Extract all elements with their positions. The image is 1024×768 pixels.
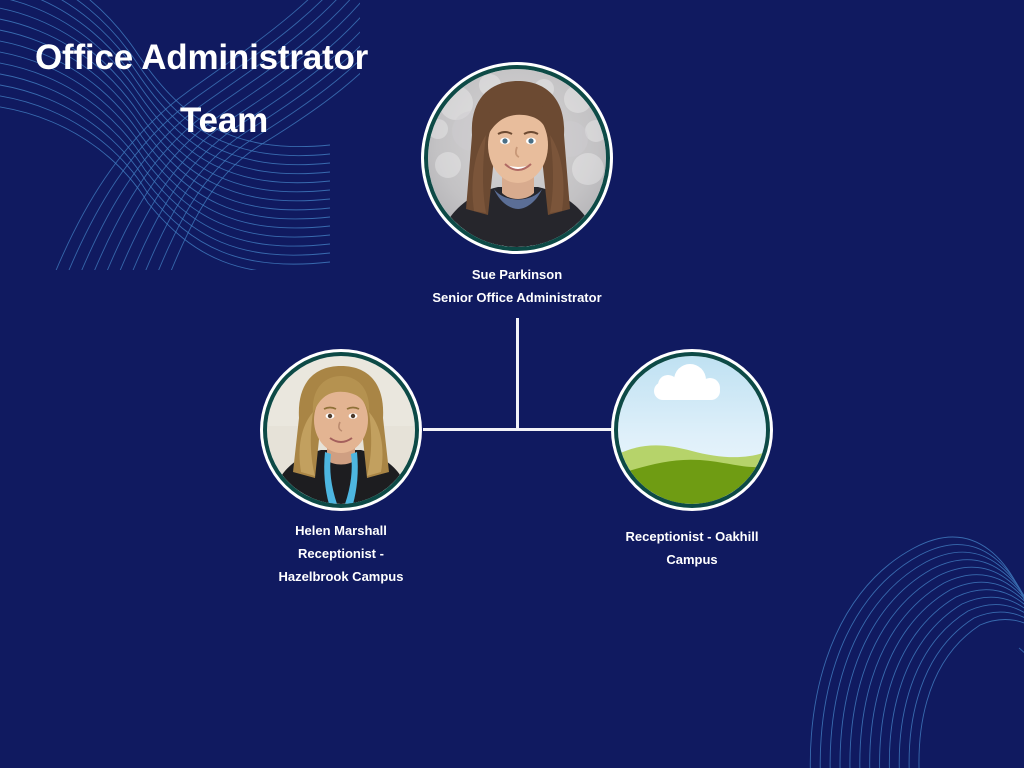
- portrait-woman-long-brown-hair-icon: [428, 69, 606, 247]
- node-role: Senior Office Administrator: [432, 286, 601, 309]
- caption-oakhill-receptionist: Receptionist - Oakhill Campus: [626, 525, 759, 571]
- wave-ribbon-decoration-bottom-right: [784, 498, 1024, 768]
- org-node-helen-marshall[interactable]: Helen Marshall Receptionist - Hazelbrook…: [241, 349, 441, 588]
- node-role-line-1: Receptionist - Oakhill: [626, 525, 759, 548]
- caption-sue-parkinson: Sue Parkinson Senior Office Administrato…: [432, 263, 601, 309]
- node-name: Sue Parkinson: [432, 263, 601, 286]
- connector-line-horizontal: [423, 428, 613, 431]
- page-title: Office Administrator Team: [35, 40, 413, 138]
- caption-helen-marshall: Helen Marshall Receptionist - Hazelbrook…: [279, 519, 404, 588]
- org-node-oakhill-receptionist[interactable]: Receptionist - Oakhill Campus: [592, 349, 792, 571]
- avatar-helen-marshall[interactable]: [260, 349, 422, 511]
- node-role-line-1: Receptionist -: [279, 542, 404, 565]
- avatar-photo: [618, 356, 766, 504]
- avatar-photo: [428, 69, 606, 247]
- avatar-oakhill-receptionist[interactable]: [611, 349, 773, 511]
- page-title-line-2: Team: [35, 103, 413, 138]
- node-role-line-2: Campus: [626, 548, 759, 571]
- avatar-photo: [267, 356, 415, 504]
- org-node-sue-parkinson[interactable]: Sue Parkinson Senior Office Administrato…: [377, 62, 657, 309]
- node-role-line-2: Hazelbrook Campus: [279, 565, 404, 588]
- node-name: Helen Marshall: [279, 519, 404, 542]
- connector-line-vertical: [516, 318, 519, 430]
- org-chart-slide: Office Administrator Team: [0, 0, 1024, 768]
- landscape-placeholder-icon: [618, 356, 766, 504]
- portrait-woman-blonde-lanyard-icon: [267, 356, 415, 504]
- avatar-sue-parkinson[interactable]: [421, 62, 613, 254]
- page-title-line-1: Office Administrator: [35, 40, 413, 75]
